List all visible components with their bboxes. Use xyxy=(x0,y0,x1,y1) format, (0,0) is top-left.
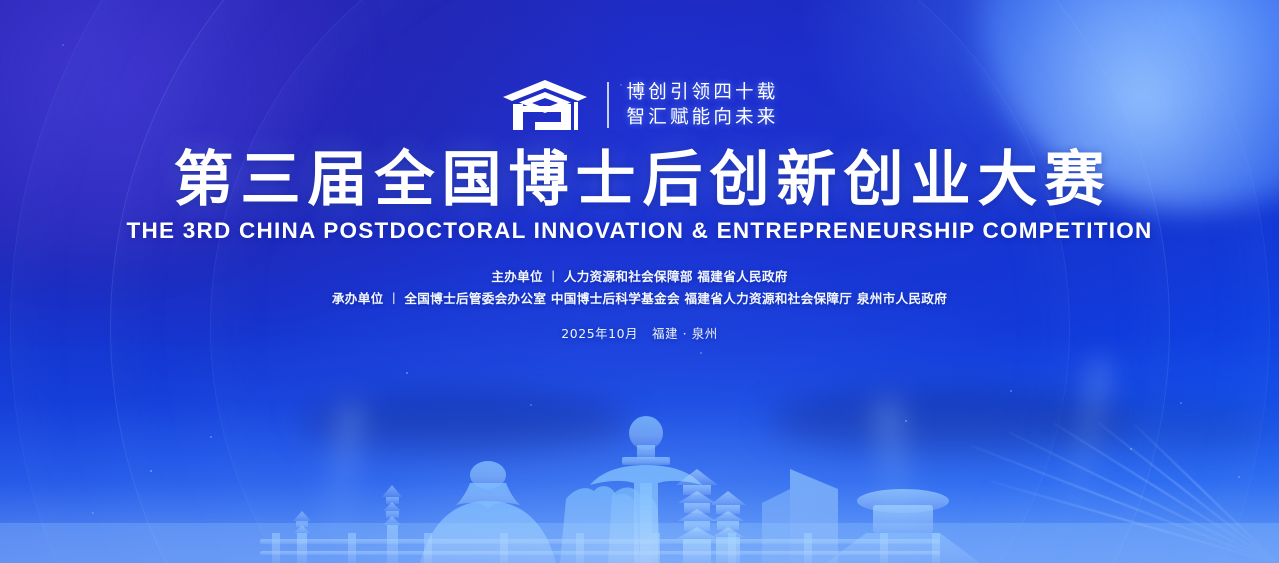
co-organizer-line: 承办单位丨全国博士后管委会办公室 中国博士后科学基金会 福建省人力资源和社会保障… xyxy=(0,288,1279,310)
event-meta-line: 2025年10月福建 · 泉州 xyxy=(0,324,1279,342)
event-location: 福建 · 泉州 xyxy=(652,326,718,341)
slogan-block: 博创引领四十载 智汇赋能向未来 xyxy=(627,83,779,128)
slogan-line-1: 博创引领四十载 xyxy=(627,83,779,103)
poster-content: 博创引领四十载 智汇赋能向未来 第三届全国博士后创新创业大赛 THE 3RD C… xyxy=(0,0,1279,342)
main-title-en: THE 3RD CHINA POSTDOCTORAL INNOVATION & … xyxy=(0,218,1279,244)
host-separator: 丨 xyxy=(543,269,564,284)
event-date: 2025年10月 xyxy=(561,326,638,341)
divider-bar xyxy=(607,82,609,128)
host-line: 主办单位丨人力资源和社会保障部 福建省人民政府 xyxy=(0,266,1279,288)
host-items: 人力资源和社会保障部 福建省人民政府 xyxy=(564,269,788,284)
main-title-cn: 第三届全国博士后创新创业大赛 xyxy=(0,150,1279,211)
slogan-line-2: 智汇赋能向未来 xyxy=(627,108,779,128)
graduation-cap-icon xyxy=(501,78,589,132)
organizer-block: 主办单位丨人力资源和社会保障部 福建省人民政府 承办单位丨全国博士后管委会办公室… xyxy=(0,266,1279,310)
co-organizer-items: 全国博士后管委会办公室 中国博士后科学基金会 福建省人力资源和社会保障厅 泉州市… xyxy=(404,291,947,306)
co-organizer-separator: 丨 xyxy=(383,291,404,306)
co-organizer-label: 承办单位 xyxy=(332,291,384,306)
city-skyline xyxy=(0,373,1279,563)
host-label: 主办单位 xyxy=(491,269,543,284)
poster-canvas: 博创引领四十载 智汇赋能向未来 第三届全国博士后创新创业大赛 THE 3RD C… xyxy=(0,0,1279,563)
emblem-row: 博创引领四十载 智汇赋能向未来 xyxy=(0,74,1279,136)
